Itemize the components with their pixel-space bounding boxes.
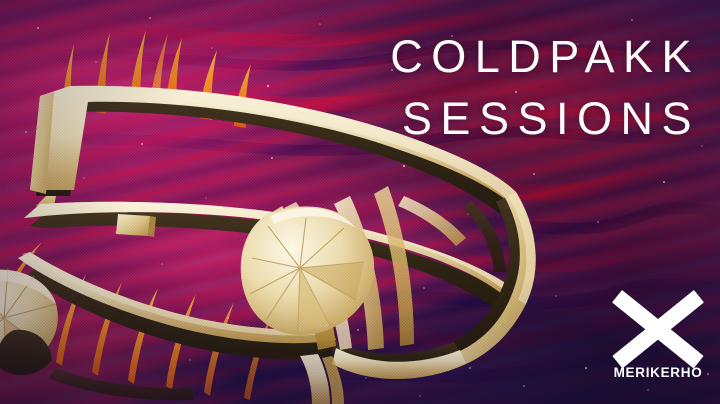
poster-canvas: COLDPAKK SESSIONS MERIKERHO	[0, 0, 720, 404]
merikerho-logo: MERIKERHO	[616, 295, 700, 380]
poster-title: COLDPAKK SESSIONS	[382, 26, 700, 150]
x-mark-icon	[616, 295, 700, 362]
logo-wordmark: MERIKERHO	[614, 366, 703, 380]
title-line-sessions: SESSIONS	[382, 88, 700, 150]
title-line-coldpakk: COLDPAKK	[382, 26, 700, 88]
